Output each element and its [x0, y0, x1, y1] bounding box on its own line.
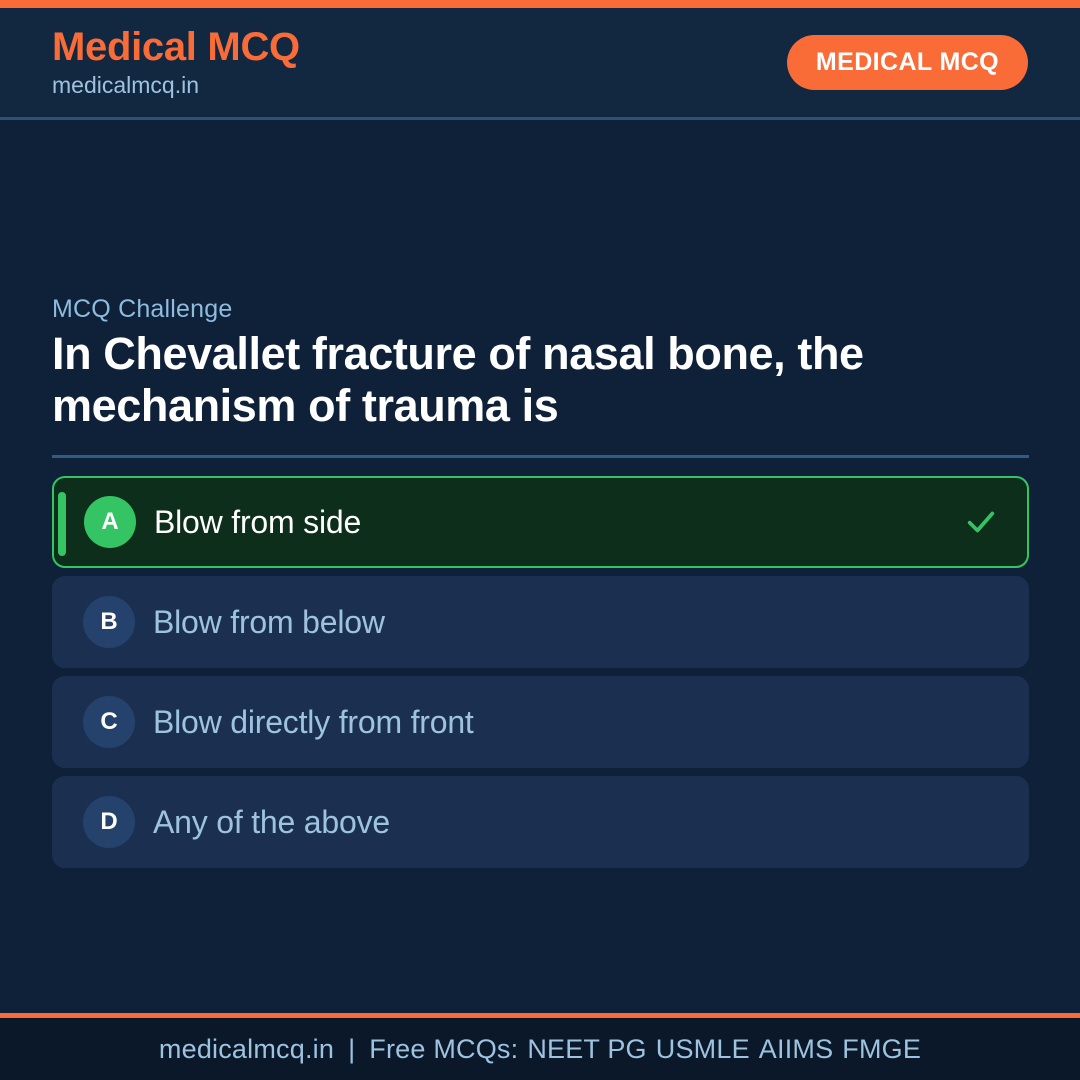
option-b[interactable]: B Blow from below — [52, 576, 1029, 668]
main-content: MCQ Challenge In Chevallet fracture of n… — [0, 123, 1080, 1013]
footer-exam-fmge[interactable]: FMGE — [833, 1034, 921, 1064]
option-c-letter: C — [83, 696, 135, 748]
top-accent-bar — [0, 0, 1080, 8]
footer-exams-label: Free MCQs: — [369, 1034, 518, 1064]
selected-accent-bar — [58, 492, 66, 556]
page-header: Medical MCQ medicalmcq.in MEDICAL MCQ — [0, 8, 1080, 120]
page-footer: medicalmcq.in|Free MCQs:NEET PGUSMLEAIIM… — [0, 1013, 1080, 1080]
question-text: In Chevallet fracture of nasal bone, the… — [52, 328, 1037, 432]
footer-site[interactable]: medicalmcq.in — [159, 1034, 334, 1064]
footer-exam-aiims[interactable]: AIIMS — [750, 1034, 834, 1064]
option-a[interactable]: A Blow from side — [52, 476, 1029, 568]
option-d-label: Any of the above — [153, 804, 390, 841]
options-list: A Blow from side B Blow from below C Blo… — [52, 476, 1029, 876]
option-b-label: Blow from below — [153, 604, 385, 641]
brand-title: Medical MCQ — [52, 26, 300, 69]
footer-text: medicalmcq.in|Free MCQs:NEET PGUSMLEAIIM… — [159, 1034, 921, 1065]
footer-exam-usmle[interactable]: USMLE — [647, 1034, 750, 1064]
option-b-letter: B — [83, 596, 135, 648]
option-a-label: Blow from side — [154, 504, 361, 541]
footer-exam-neet-pg[interactable]: NEET PG — [518, 1034, 646, 1064]
header-badge: MEDICAL MCQ — [787, 35, 1028, 90]
brand-subtitle: medicalmcq.in — [52, 71, 300, 100]
kicker-label: MCQ Challenge — [52, 295, 232, 324]
option-a-letter: A — [84, 496, 136, 548]
checkmark-icon — [963, 504, 999, 540]
question-divider — [52, 455, 1029, 458]
footer-separator: | — [334, 1034, 369, 1064]
option-c-label: Blow directly from front — [153, 704, 474, 741]
brand-block: Medical MCQ medicalmcq.in — [52, 26, 300, 100]
option-d-letter: D — [83, 796, 135, 848]
option-c[interactable]: C Blow directly from front — [52, 676, 1029, 768]
option-d[interactable]: D Any of the above — [52, 776, 1029, 868]
